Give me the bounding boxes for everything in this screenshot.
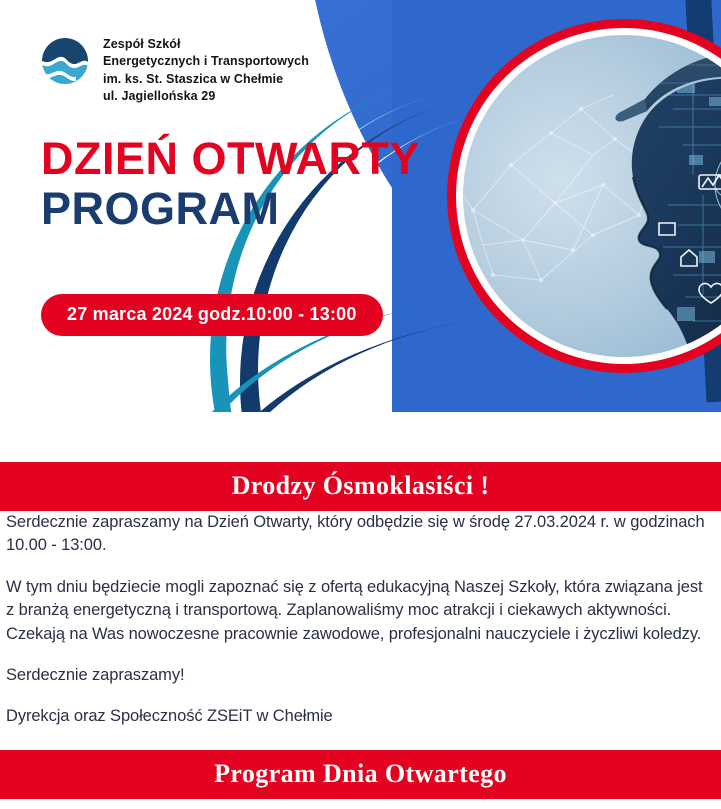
wave-circle-logo-icon [40, 36, 90, 86]
greeting-banner: Drodzy Ósmoklasiści ! [0, 462, 721, 511]
poster-headline: DZIEŃ OTWARTY PROGRAM [41, 136, 420, 232]
school-name-text: Zespół Szkół Energetycznych i Transporto… [103, 36, 309, 105]
announcement-copy: Serdecznie zapraszamy na Dzień Otwarty, … [0, 511, 721, 728]
paragraph-1: Serdecznie zapraszamy na Dzień Otwarty, … [6, 511, 715, 558]
circular-photo-medallion [456, 28, 721, 364]
headline-line-2: PROGRAM [41, 186, 420, 232]
event-date-badge: 27 marca 2024 godz.10:00 - 13:00 [41, 294, 383, 336]
paragraph-4: Dyrekcja oraz Społeczność ZSEiT w Chełmi… [6, 705, 715, 728]
profile-head-silhouette [463, 35, 721, 357]
paragraph-3: Serdecznie zapraszamy! [6, 664, 715, 687]
headline-line-1: DZIEŃ OTWARTY [41, 136, 420, 182]
medallion-photo [463, 35, 721, 357]
poster-header: Zespół Szkół Energetycznych i Transporto… [0, 0, 721, 412]
school-logo-block: Zespół Szkół Energetycznych i Transporto… [40, 36, 309, 105]
paragraph-2: W tym dniu będziecie mogli zapoznać się … [6, 576, 715, 646]
announcement-body: Drodzy Ósmoklasiści ! Serdecznie zaprasz… [0, 462, 721, 799]
program-banner: Program Dnia Otwartego [0, 750, 721, 799]
